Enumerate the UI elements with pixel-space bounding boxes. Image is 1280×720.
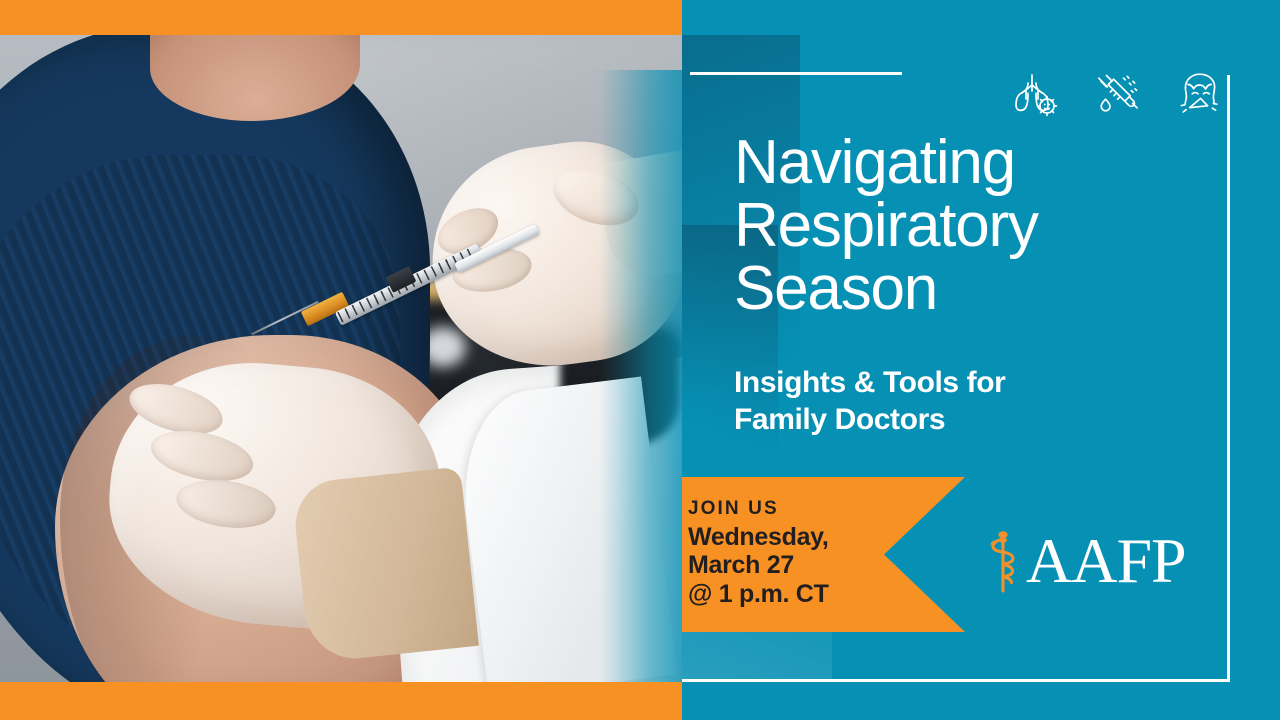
header-rule: [690, 72, 902, 75]
frame-vertical-line: [1227, 75, 1230, 682]
event-date-ribbon: JOIN US Wednesday, March 27 @ 1 p.m. CT: [682, 477, 965, 632]
bottom-orange-band: [0, 682, 682, 720]
event-time: @ 1 p.m. CT: [688, 580, 965, 609]
lab-coat-lapel: [452, 377, 677, 682]
subhead-line-2: Family Doctors: [734, 402, 1154, 439]
syringe-vaccine-icon: [1088, 65, 1144, 121]
syringe: [246, 231, 576, 341]
top-teal-band: [682, 0, 1280, 35]
join-us-label: JOIN US: [688, 499, 965, 520]
bottom-teal-band: [682, 682, 1280, 720]
headline-line-3: Season: [734, 257, 1214, 320]
sneezing-person-icon: [1172, 65, 1228, 121]
event-date: March 27: [688, 551, 965, 580]
lower-glove-cuff: [291, 467, 479, 664]
headline-line-2: Respiratory: [734, 194, 1214, 257]
caduceus-icon: [982, 525, 1024, 597]
poster-canvas: Navigating Respiratory Season Insights &…: [0, 0, 1280, 720]
vaccination-photo: [0, 35, 682, 682]
content-panel: Navigating Respiratory Season Insights &…: [682, 35, 1280, 682]
frame-horizontal-line: [682, 679, 1230, 682]
subhead-line-1: Insights & Tools for: [734, 365, 1154, 402]
headline-line-1: Navigating: [734, 131, 1214, 194]
page-subtitle: Insights & Tools for Family Doctors: [734, 365, 1154, 438]
event-day: Wednesday,: [688, 523, 965, 552]
header-icon-row: [1004, 65, 1228, 121]
top-orange-band: [0, 0, 682, 35]
aafp-logo: AAFP: [982, 525, 1186, 597]
aafp-wordmark: AAFP: [1026, 529, 1186, 593]
page-title: Navigating Respiratory Season: [734, 131, 1214, 321]
lungs-virus-icon: [1004, 65, 1060, 121]
